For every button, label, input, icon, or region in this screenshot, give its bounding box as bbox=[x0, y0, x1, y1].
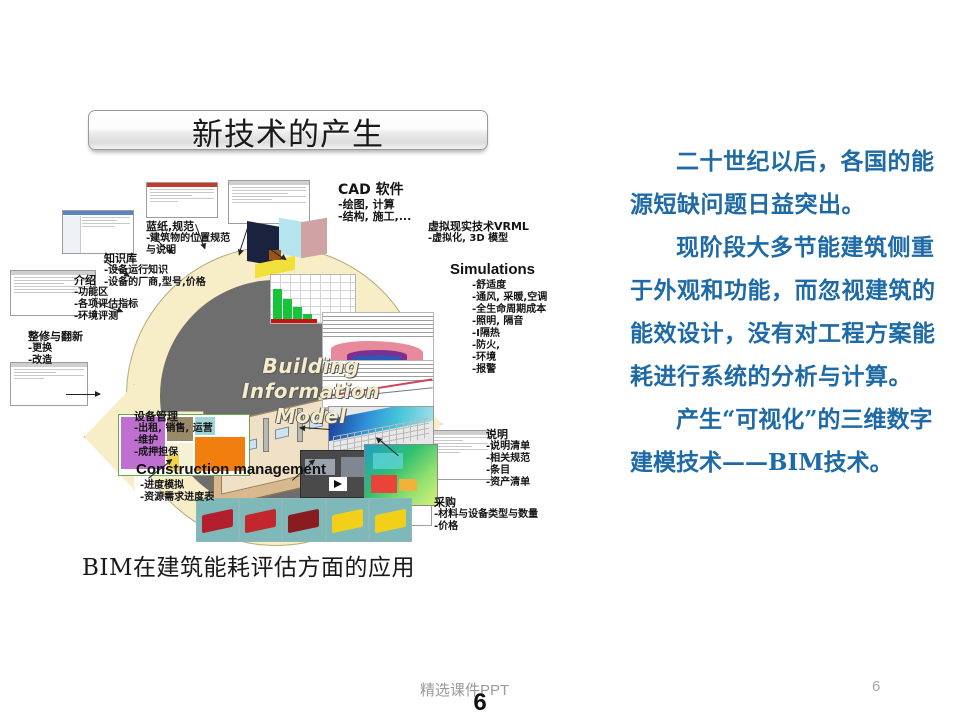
thumb-cad-plan bbox=[228, 180, 310, 224]
label-records: 介绍 -功能区 -各项评估指标 -环境评测 bbox=[74, 274, 138, 323]
cad-3d-illustration bbox=[245, 220, 341, 276]
label-simulations-sub: -舒适度 -通风, 采暖,空调 -全生命周期成本 -照明, 隔音 -I隔热 -防… bbox=[472, 280, 547, 376]
label-cad: CAD 软件 -绘图, 计算 -结构, 施工,... bbox=[338, 182, 411, 223]
bim-diagram: Building Information Model bbox=[0, 162, 616, 558]
label-construction-sub: -进度模拟 -资源需求进度表 bbox=[140, 480, 214, 504]
slide-canvas: 新技术的产生 Building Information Model bbox=[0, 0, 960, 720]
body-text-column: 二十世纪以后，各国的能源短缺问题日益突出。 现阶段大多节能建筑侧重于外观和功能，… bbox=[630, 140, 942, 484]
label-renovation: 整修与翻新 -更换 -改造 bbox=[28, 330, 83, 367]
connector-arrow-icon bbox=[66, 394, 100, 395]
thermal-map-illustration bbox=[364, 444, 438, 506]
label-facility: 设备管理 -出租, 销售, 运营 -维护 -成押担保 bbox=[134, 410, 213, 459]
bim-line-2: Information bbox=[242, 379, 380, 403]
label-simulations: Simulations bbox=[450, 260, 535, 279]
page-title: 新技术的产生 bbox=[88, 108, 488, 154]
thumb-knowledge bbox=[62, 210, 134, 254]
body-paragraph-1: 二十世纪以后，各国的能源短缺问题日益突出。 bbox=[630, 140, 942, 226]
body-paragraph-2: 现阶段大多节能建筑侧重于外观和功能，而忽视建筑的能效设计，没有对工程方案能耗进行… bbox=[630, 226, 942, 398]
label-procure: 采购 -材料与设备类型与数量 -价格 bbox=[434, 496, 538, 533]
thumb-renovation bbox=[10, 362, 88, 406]
footer-corner-number: 6 bbox=[872, 678, 880, 695]
bim-line-1: Building bbox=[263, 354, 360, 378]
construction-sequence-strip bbox=[196, 498, 412, 542]
footer-page-number: 6 bbox=[0, 689, 960, 717]
label-vrml: 虚拟现实技术VRML -虚拟化, 3D 模型 bbox=[428, 220, 529, 245]
thumb-drawings bbox=[146, 182, 218, 218]
bim-line-3: Model bbox=[276, 404, 347, 428]
bim-center-label: Building Information Model bbox=[205, 354, 417, 429]
label-construction: Construction management bbox=[136, 460, 326, 479]
figure-caption: BIM在建筑能耗评估方面的应用 bbox=[82, 548, 415, 582]
body-paragraph-3: 产生“可视化”的三维数字建模技术——BIM技术。 bbox=[630, 398, 942, 484]
label-spec: 说明 -说明清单 -相关规范 -条目 -资产清单 bbox=[486, 428, 530, 489]
